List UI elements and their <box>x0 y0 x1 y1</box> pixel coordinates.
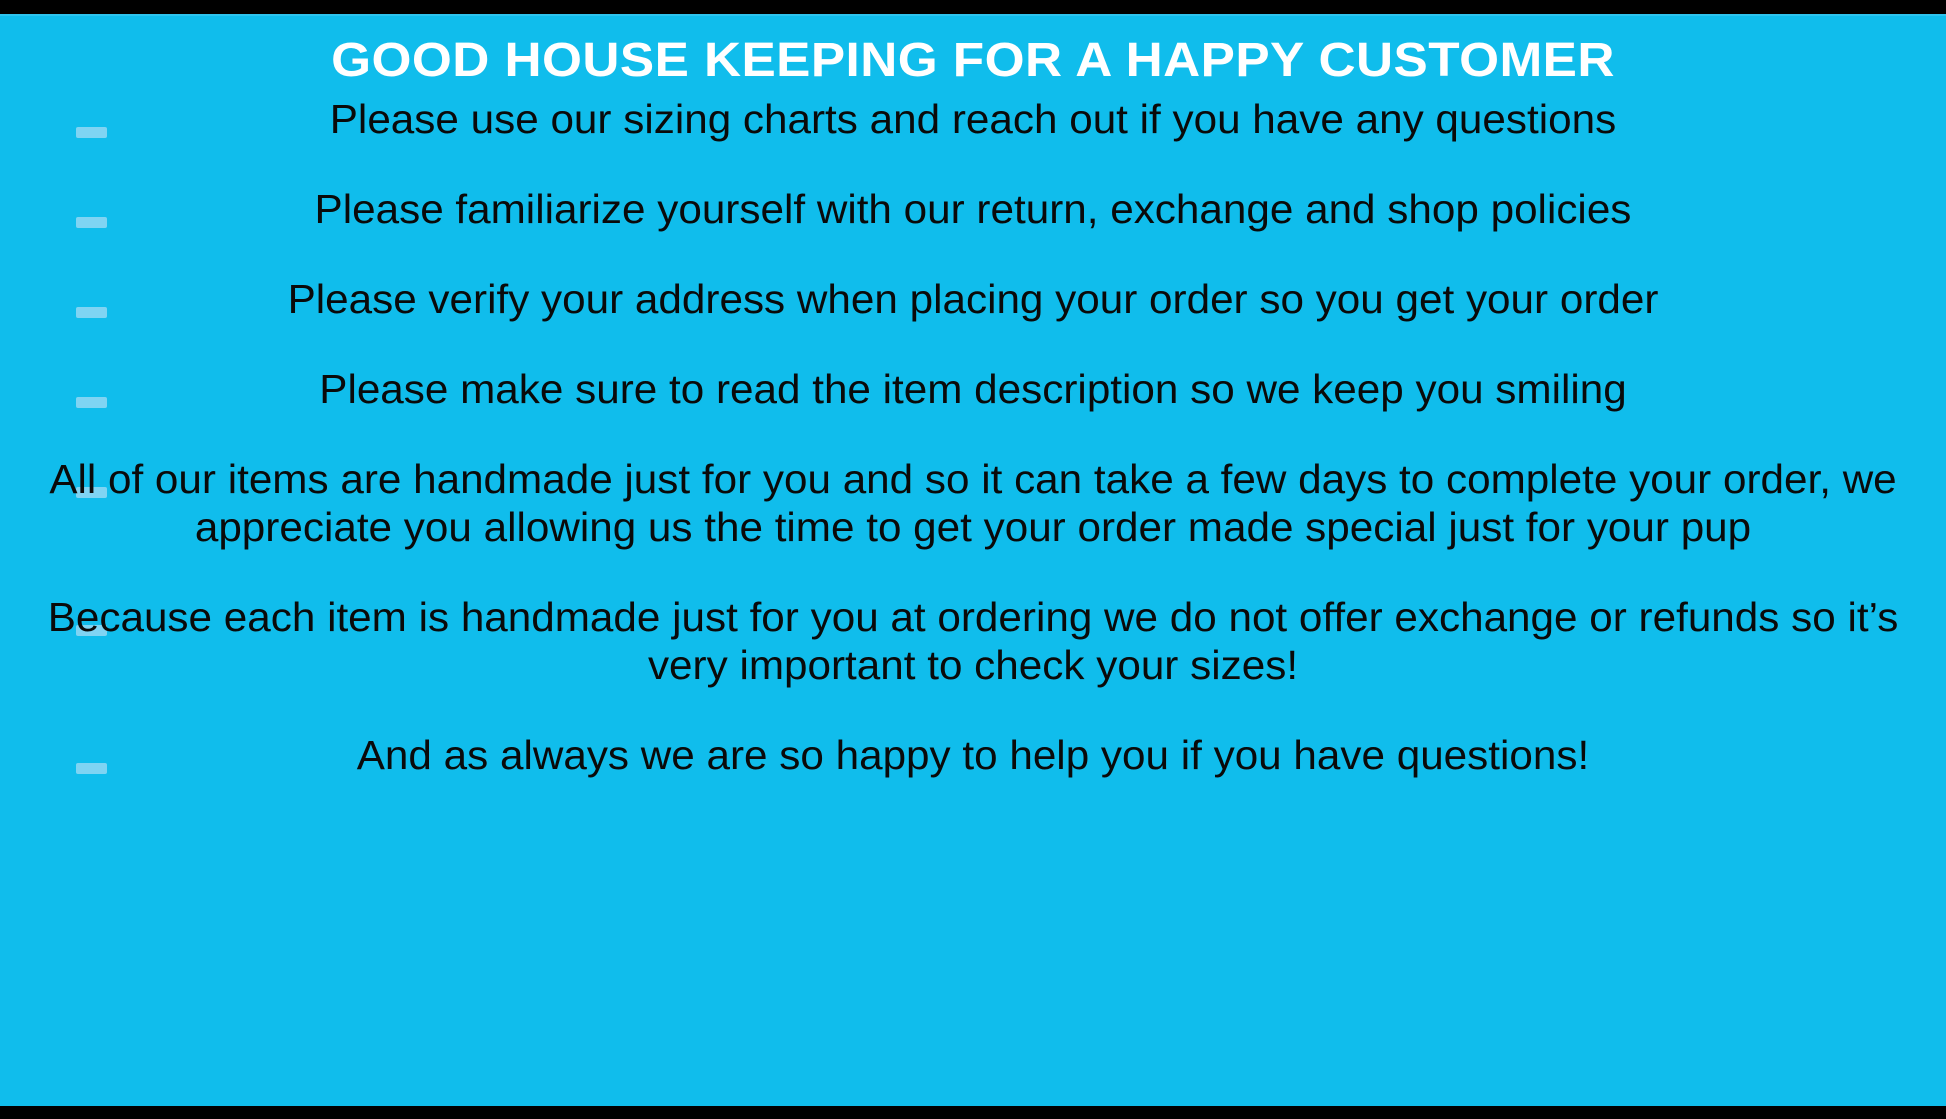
bullet-list: Please use our sizing charts and reach o… <box>0 96 1946 780</box>
list-item-label: And as always we are so happy to help yo… <box>46 732 1900 780</box>
page-title: GOOD HOUSE KEEPING FOR A HAPPY CUSTOMER <box>0 36 1946 86</box>
list-item: Please familiarize yourself with our ret… <box>0 186 1946 234</box>
list-item: All of our items are handmade just for y… <box>0 456 1946 552</box>
list-item: Please use our sizing charts and reach o… <box>0 96 1946 144</box>
list-item: Please verify your address when placing … <box>0 276 1946 324</box>
list-item-label: Because each item is handmade just for y… <box>46 594 1900 690</box>
list-item-label: Please verify your address when placing … <box>46 276 1900 324</box>
list-item-label: All of our items are handmade just for y… <box>46 456 1900 552</box>
list-item: Because each item is handmade just for y… <box>0 594 1946 690</box>
letterbox-bar-top <box>0 0 1946 14</box>
list-item-label: Please make sure to read the item descri… <box>46 366 1900 414</box>
slide-canvas: GOOD HOUSE KEEPING FOR A HAPPY CUSTOMER … <box>0 14 1946 1106</box>
list-item-label: Please use our sizing charts and reach o… <box>46 96 1900 144</box>
list-item: And as always we are so happy to help yo… <box>0 732 1946 780</box>
list-item-label: Please familiarize yourself with our ret… <box>46 186 1900 234</box>
slide-root: GOOD HOUSE KEEPING FOR A HAPPY CUSTOMER … <box>0 0 1946 1119</box>
letterbox-bar-bottom <box>0 1106 1946 1119</box>
list-item: Please make sure to read the item descri… <box>0 366 1946 414</box>
